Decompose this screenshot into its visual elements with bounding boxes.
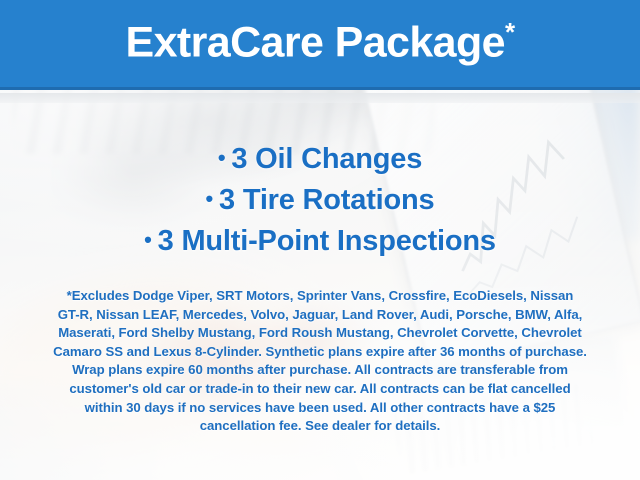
disclaimer-line: Maserati, Ford Shelby Mustang, Ford Rous…: [28, 324, 612, 343]
extracare-promo-card: ExtraCare Package* •3 Oil Changes •3 Tir…: [0, 0, 640, 480]
page-title: ExtraCare Package*: [126, 19, 515, 64]
page-title-text: ExtraCare Package: [126, 18, 505, 66]
list-item-label: 3 Oil Changes: [231, 143, 422, 175]
disclaimer-fine-print: *Excludes Dodge Viper, SRT Motors, Sprin…: [28, 287, 612, 436]
disclaimer-line: customer's old car or trade-in to their …: [28, 380, 612, 399]
disclaimer-line: Camaro SS and Lexus 8-Cylinder. Syntheti…: [28, 343, 612, 362]
list-item-label: 3 Multi-Point Inspections: [158, 225, 496, 257]
disclaimer-line: Wrap plans expire 60 months after purcha…: [28, 361, 612, 380]
list-item: •3 Multi-Point Inspections: [0, 220, 640, 261]
list-item: •3 Oil Changes: [0, 138, 640, 179]
page-title-asterisk: *: [505, 17, 515, 47]
bullet-icon: •: [218, 145, 226, 170]
benefits-list: •3 Oil Changes •3 Tire Rotations •3 Mult…: [0, 138, 640, 261]
bullet-icon: •: [206, 186, 214, 211]
disclaimer-line: within 30 days if no services have been …: [28, 399, 612, 418]
banner-underline-strip: [0, 93, 640, 103]
list-item-label: 3 Tire Rotations: [219, 184, 434, 216]
disclaimer-line: cancellation fee. See dealer for details…: [28, 417, 612, 436]
disclaimer-line: GT-R, Nissan LEAF, Mercedes, Volvo, Jagu…: [28, 306, 612, 325]
bullet-icon: •: [144, 227, 152, 252]
header-banner: ExtraCare Package*: [0, 0, 640, 90]
disclaimer-line: *Excludes Dodge Viper, SRT Motors, Sprin…: [28, 287, 612, 306]
list-item: •3 Tire Rotations: [0, 179, 640, 220]
